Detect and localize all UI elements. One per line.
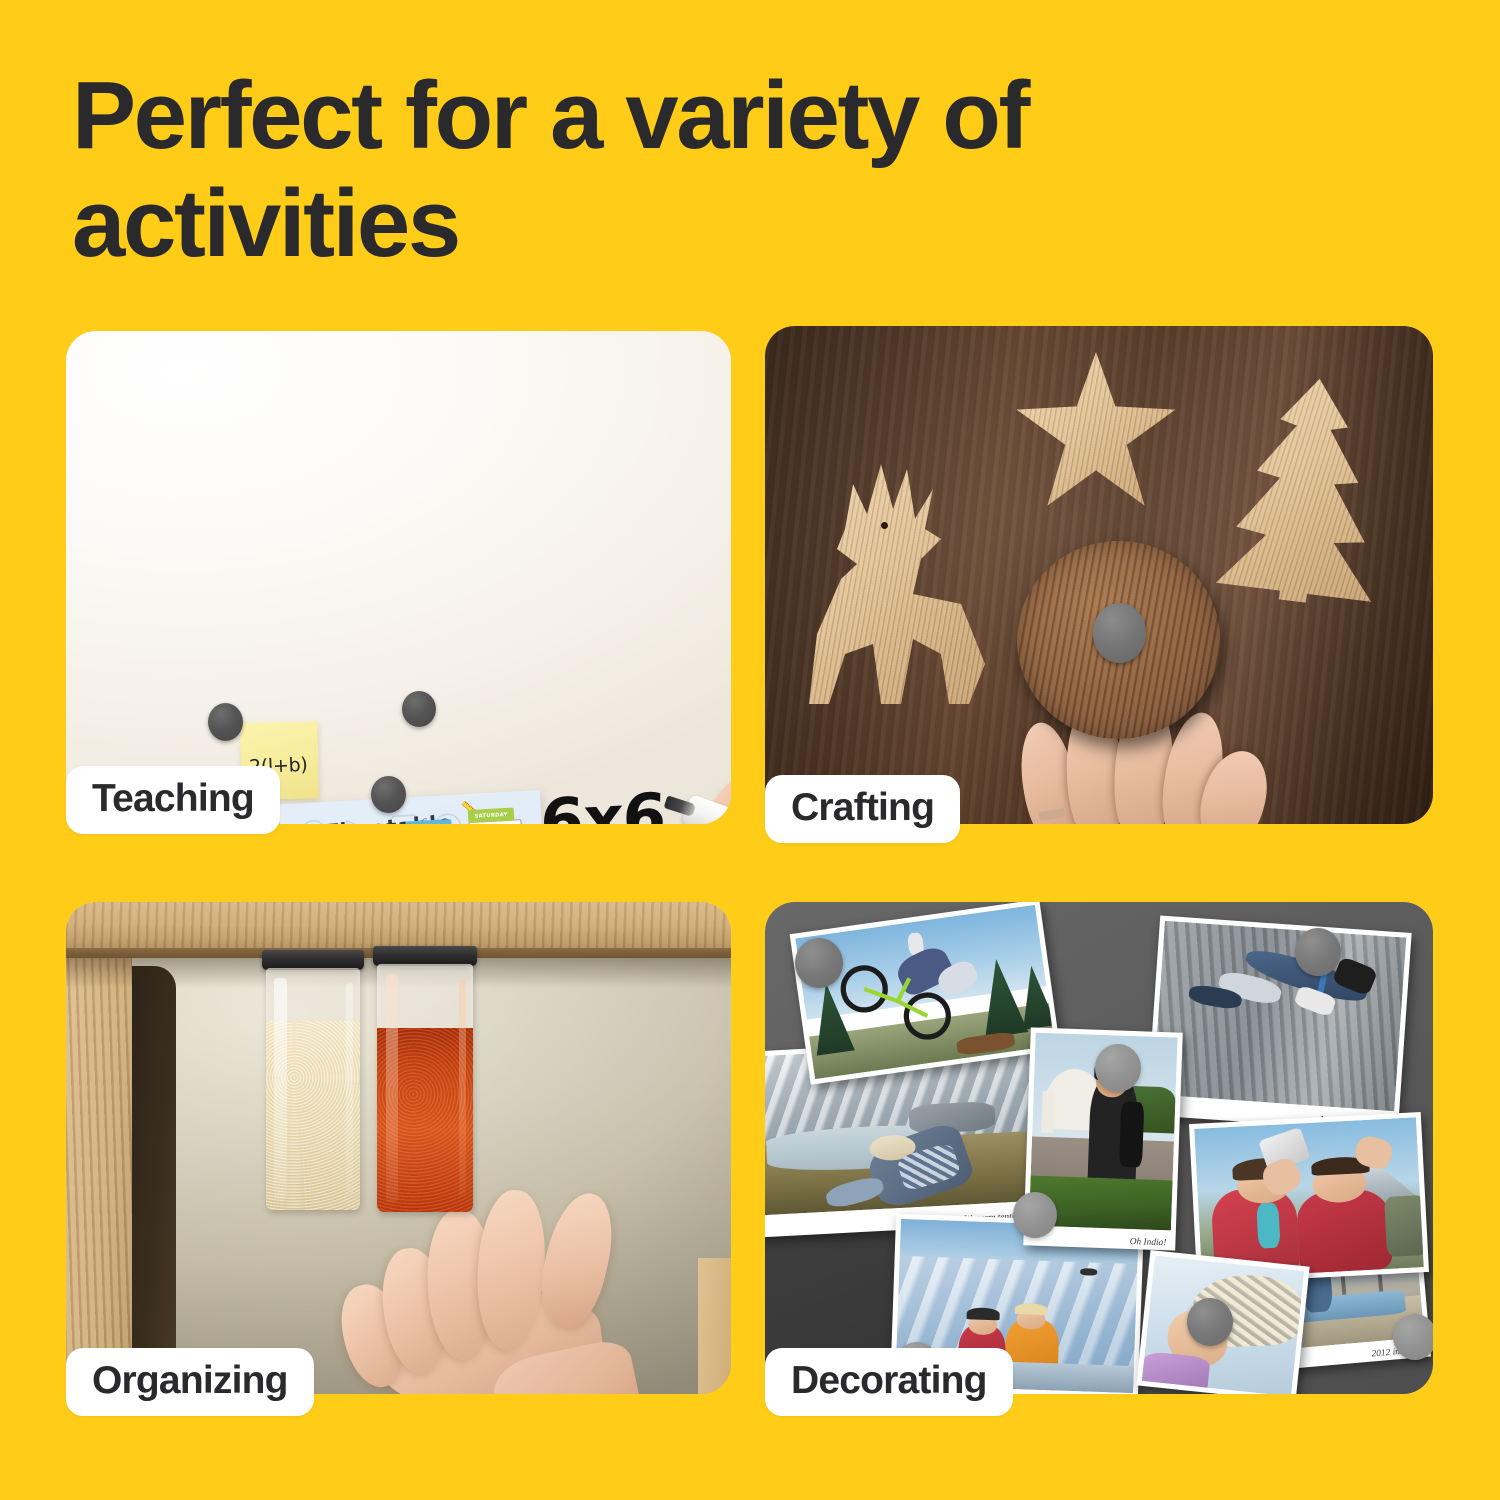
- panel-decorating[interactable]: We were tenting here Oh I: [765, 902, 1433, 1394]
- reindeer-eye: [881, 522, 888, 529]
- magnet-dot[interactable]: [208, 703, 243, 741]
- magnet-dot[interactable]: [1093, 603, 1146, 663]
- round-wood-disc[interactable]: [1017, 541, 1220, 739]
- magnet-dot[interactable]: [1393, 1314, 1433, 1360]
- panel-crafting[interactable]: [765, 326, 1433, 824]
- magnet-dot[interactable]: [371, 776, 406, 813]
- spice-jar-paprika[interactable]: [373, 946, 477, 1212]
- magnet-dot[interactable]: [402, 691, 436, 727]
- panel-label-organizing: Organizing: [66, 1348, 314, 1416]
- magnet-dot[interactable]: [1187, 1298, 1233, 1346]
- whiteboard-writing: 6x6: [539, 780, 665, 824]
- whiteboard-vignette: [66, 331, 731, 824]
- magnet-dot[interactable]: [1295, 928, 1341, 976]
- helicopter-icon: [1080, 1268, 1097, 1275]
- spice-jar-white[interactable]: [262, 950, 364, 1210]
- magnet-dot[interactable]: [1095, 1044, 1141, 1092]
- panel-label-decorating: Decorating: [765, 1348, 1013, 1416]
- panel-teaching[interactable]: 2(l+b): [66, 331, 731, 824]
- panel-label-crafting: Crafting: [765, 775, 960, 843]
- day-tab-label: Saturday: [468, 808, 515, 824]
- panel-organizing[interactable]: [66, 902, 731, 1394]
- cabinet-side-panel: [66, 958, 132, 1394]
- jar-glass: [377, 964, 473, 1212]
- jar-lid: [373, 946, 477, 966]
- magnet-dot[interactable]: [1013, 1192, 1057, 1238]
- cabinet-interior-shadow: [128, 966, 176, 1394]
- activities-grid: 2(l+b): [0, 0, 1500, 1500]
- jar-glass: [266, 968, 360, 1210]
- panel-label-teaching: Teaching: [66, 766, 280, 834]
- cabinet-right-edge: [698, 1258, 731, 1394]
- magnet-dot[interactable]: [795, 938, 843, 988]
- photo-caption: Oh India!: [1130, 1237, 1167, 1248]
- photo-card[interactable]: 1st bungee jump :): [1146, 915, 1411, 1132]
- jar-lid: [262, 950, 364, 970]
